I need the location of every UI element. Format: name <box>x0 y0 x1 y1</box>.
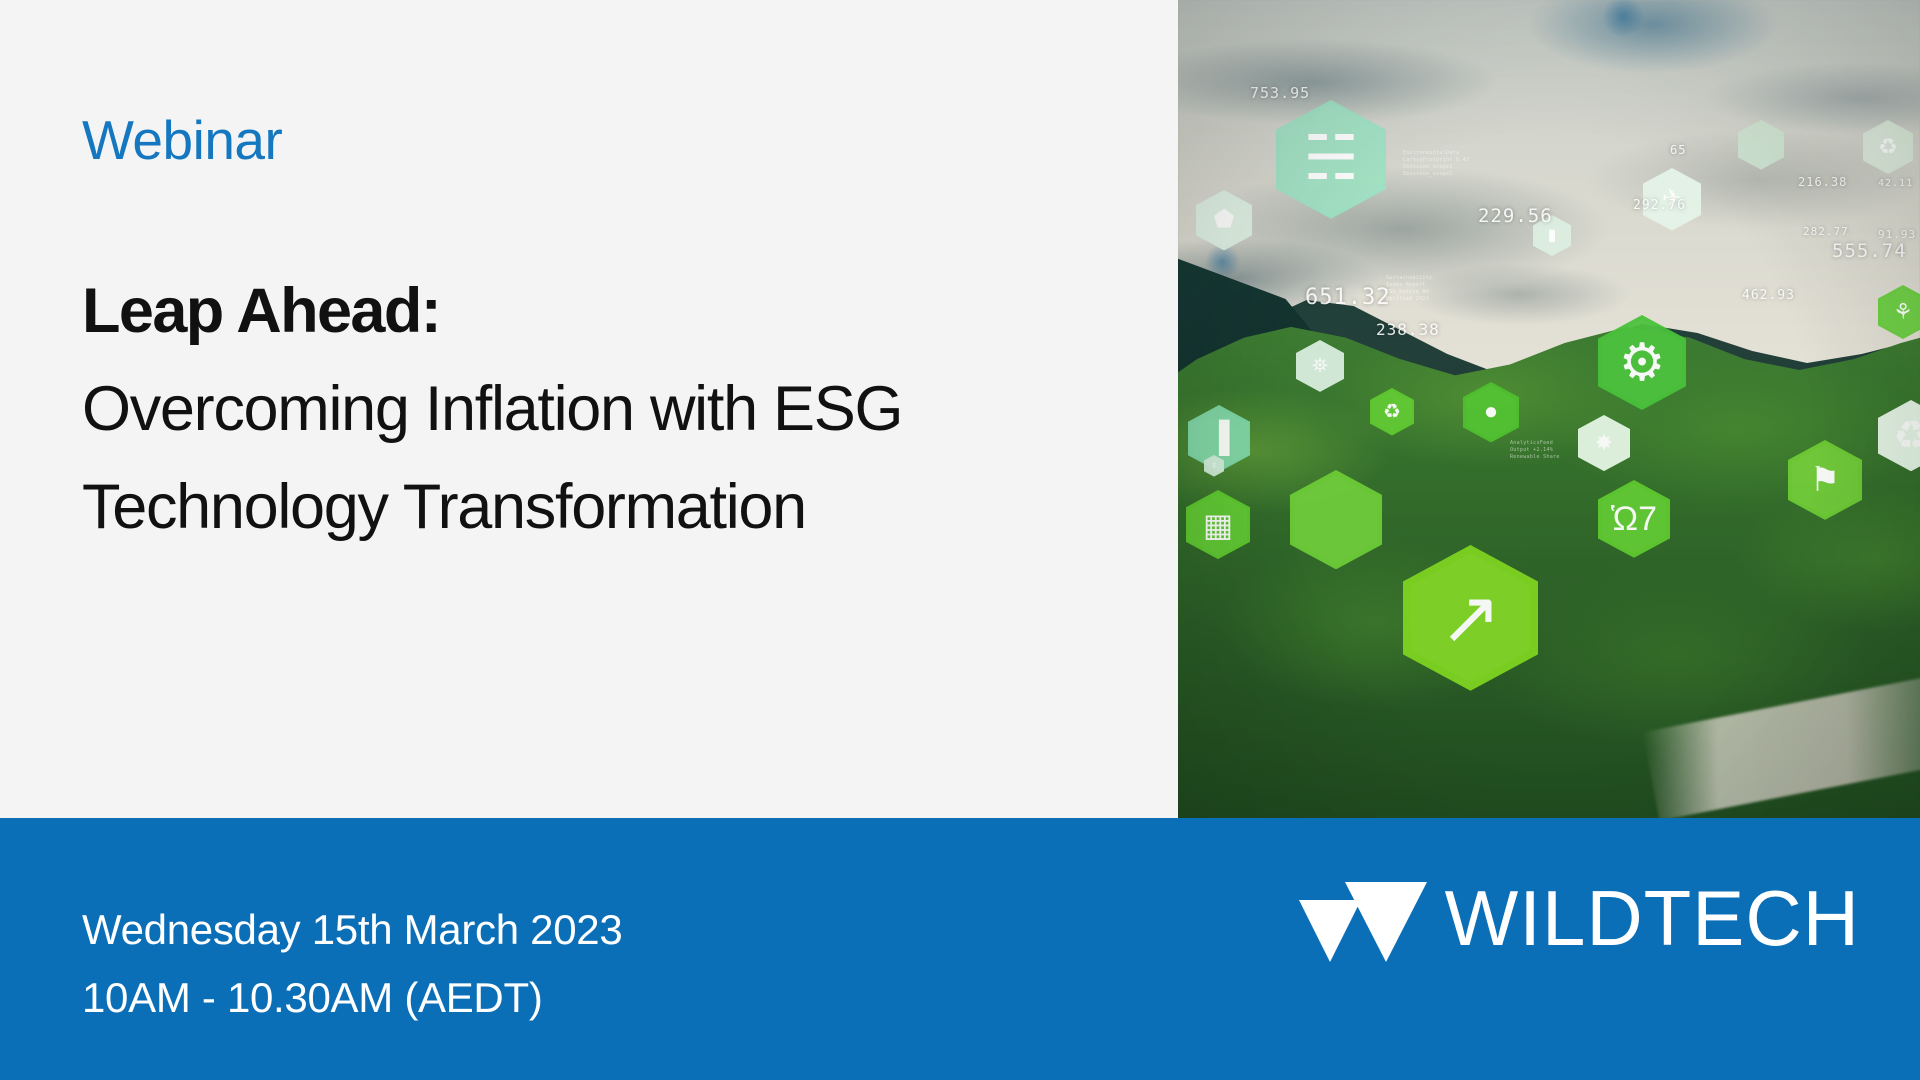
event-datetime: Wednesday 15th March 2023 10AM - 10.30AM… <box>82 896 622 1032</box>
page-title: Leap Ahead: Overcoming Inflation with ES… <box>82 262 1102 556</box>
headline-rest: Overcoming Inflation with ESG Technology… <box>82 360 1102 556</box>
webinar-promo-banner: Webinar Leap Ahead: Overcoming Inflation… <box>0 0 1920 1080</box>
eyebrow-label: Webinar <box>82 112 282 170</box>
footer-bar: Wednesday 15th March 2023 10AM - 10.30AM… <box>0 818 1920 1080</box>
headline-strong: Leap Ahead: <box>82 262 1102 360</box>
wildtech-w-mark-icon <box>1299 874 1427 962</box>
wildtech-logo[interactable]: WILDTECH <box>1299 874 1860 962</box>
event-time: 10AM - 10.30AM (AEDT) <box>82 964 622 1032</box>
hero-image: ☵↗⚙♻Ὡ7⚑▦▐●✸⬟♁♻✈▮⛯♻⚘753.95229.56651.32238… <box>1178 0 1920 818</box>
left-content-panel: Webinar Leap Ahead: Overcoming Inflation… <box>0 0 1178 818</box>
vignette-layer <box>1178 0 1920 818</box>
event-date: Wednesday 15th March 2023 <box>82 896 622 964</box>
wildtech-wordmark: WILDTECH <box>1445 879 1860 957</box>
